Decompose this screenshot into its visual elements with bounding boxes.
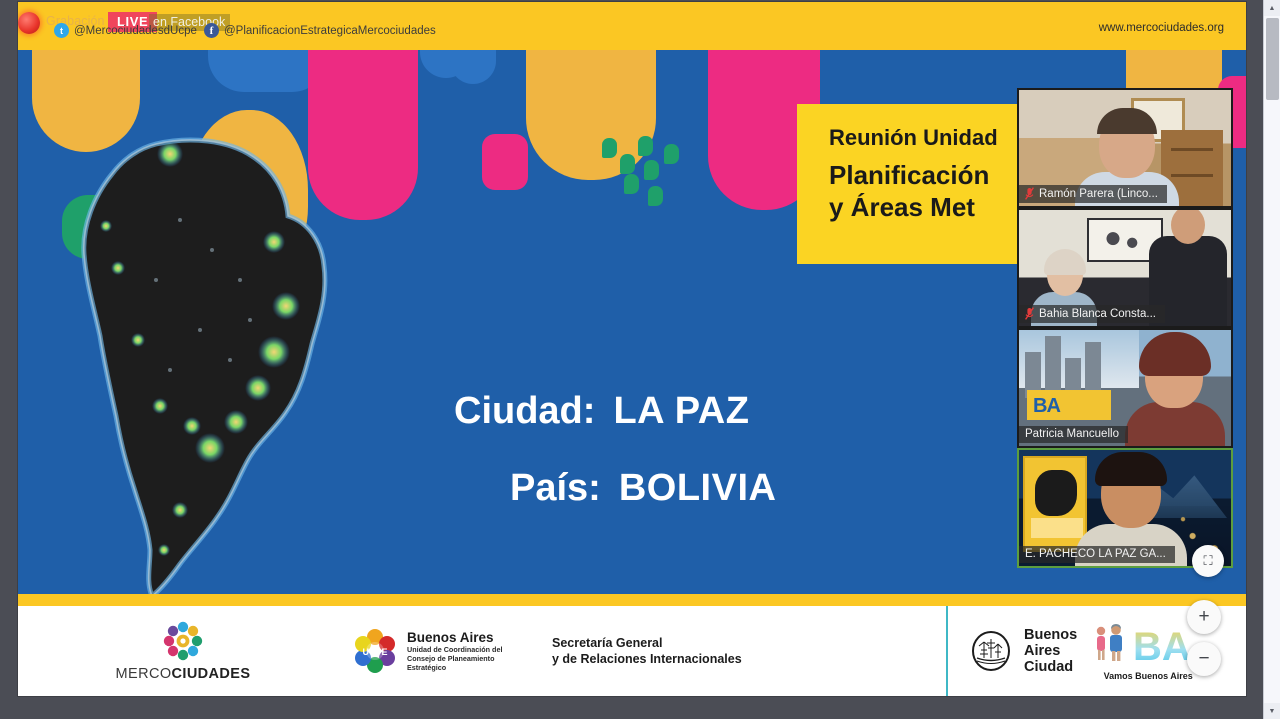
facebook-icon: f <box>204 23 219 38</box>
vertical-scrollbar[interactable]: ▲ ▼ <box>1263 0 1280 719</box>
facebook-handle-text: @PlanificacionEstrategicaMercociudades <box>224 25 436 37</box>
participant-name-badge: E. PACHECO LA PAZ GA... <box>1019 546 1175 563</box>
twitter-handle-group: t @MercociudadesdUcpe <box>54 23 197 38</box>
decor-shape-pink-2 <box>482 134 528 190</box>
merco-text-bold: CIUDADES <box>172 666 251 682</box>
decor-leaf-6 <box>648 186 663 206</box>
decor-building-2 <box>1045 336 1061 398</box>
pais-value: BOLIVIA <box>619 467 777 510</box>
participant-avatar <box>1119 340 1229 448</box>
presentation-viewer: Grabación LIVE en Facebook t @Mercociuda… <box>0 0 1280 719</box>
participant-name-text: Bahia Blanca Consta... <box>1039 308 1156 320</box>
zoom-out-button[interactable]: − <box>1187 642 1221 676</box>
participant-name-badge: Bahia Blanca Consta... <box>1019 305 1165 323</box>
decor-leaf-1 <box>602 138 617 158</box>
buenos-aires-ciudad-texts: Buenos Aires Ciudad <box>1024 627 1077 676</box>
decor-leaf-7 <box>664 144 679 164</box>
mercociudades-wordmark: MERCOCIUDADES <box>116 666 251 682</box>
ba-line-2: Aires <box>1024 643 1077 659</box>
svg-text:UCPE: UCPE <box>362 647 387 657</box>
scroll-up-arrow[interactable]: ▲ <box>1264 0 1280 16</box>
decor-leaf-3 <box>638 136 653 156</box>
ucpe-logo: UCPE <box>352 628 398 674</box>
ucpe-sub-3: Estratégico <box>407 664 502 673</box>
participant-filmstrip: Ramón Parera (Linco... <box>1017 88 1233 568</box>
secretaria-group: Secretaría General y de Relaciones Inter… <box>528 606 946 696</box>
facebook-handle-group: f @PlanificacionEstrategicaMercociudades <box>204 23 436 38</box>
ucpe-texts: Buenos Aires Unidad de Coordinación del … <box>407 630 502 673</box>
decor-shape-blue-3 <box>450 50 496 84</box>
ucpe-title: Buenos Aires <box>407 630 502 646</box>
twitter-handle-text: @MercociudadesdUcpe <box>74 25 197 37</box>
decor-shape-yellow-2 <box>526 50 656 180</box>
participant-name-badge: Ramón Parera (Linco... <box>1019 185 1167 203</box>
fullscreen-button[interactable]: ⛶ <box>1192 545 1224 577</box>
ucpe-logo-group: UCPE Buenos Aires Unidad de Coordinación… <box>348 606 528 696</box>
south-america-density-map <box>60 130 390 594</box>
field-row-ciudad: Ciudad: LA PAZ <box>368 390 928 433</box>
mercociudades-logo <box>162 620 204 662</box>
zoom-in-button[interactable]: + <box>1187 600 1221 634</box>
twitter-icon: t <box>54 23 69 38</box>
secretaria-line-1: Secretaría General <box>552 635 742 651</box>
ciudad-value: LA PAZ <box>613 390 749 433</box>
participant-name-badge: Patricia Mancuello <box>1019 426 1128 443</box>
shared-screen-slide: Grabación LIVE en Facebook t @Mercociuda… <box>18 2 1246 696</box>
plus-icon: + <box>1198 606 1209 628</box>
secretaria-line-2: y de Relaciones Internacionales <box>552 651 742 667</box>
mic-muted-icon <box>1025 187 1034 200</box>
mic-muted-icon <box>1025 307 1034 320</box>
buenos-aires-seal-icon <box>970 630 1012 672</box>
participant-name-text: Ramón Parera (Linco... <box>1039 188 1158 200</box>
field-row-pais: País: BOLIVIA <box>368 467 928 510</box>
minus-icon: − <box>1198 648 1209 670</box>
decor-ba-text: BA <box>1033 395 1060 418</box>
ba-line-1: Buenos <box>1024 627 1077 643</box>
video-tile-patricia-mancuello[interactable]: BA Patricia Mancuello <box>1017 328 1233 448</box>
secretaria-texts: Secretaría General y de Relaciones Inter… <box>552 635 742 668</box>
slide-fields: Ciudad: LA PAZ País: BOLIVIA <box>368 390 928 510</box>
slide-footer: MERCOCIUDADES UCPE <box>18 606 1246 696</box>
ba-line-3: Ciudad <box>1024 659 1077 675</box>
slide-top-banner: Grabación LIVE en Facebook t @Mercociuda… <box>18 2 1246 50</box>
record-dot-icon <box>18 12 40 34</box>
svg-text:BA: BA <box>1133 625 1191 668</box>
participant-name-text: Patricia Mancuello <box>1025 428 1119 440</box>
decor-leaf-5 <box>644 160 659 180</box>
decor-leaf-4 <box>624 174 639 194</box>
scrollbar-thumb[interactable] <box>1266 18 1279 100</box>
pais-label: País: <box>510 467 601 510</box>
video-tile-ramon-parera[interactable]: Ramón Parera (Linco... <box>1017 88 1233 208</box>
participant-name-text: E. PACHECO LA PAZ GA... <box>1025 548 1166 560</box>
fullscreen-icon: ⛶ <box>1203 553 1212 569</box>
scroll-down-arrow[interactable]: ▼ <box>1264 703 1280 719</box>
mercociudades-logo-group: MERCOCIUDADES <box>18 606 348 696</box>
website-url: www.mercociudades.org <box>1099 22 1224 34</box>
decor-leaf-2 <box>620 154 635 174</box>
video-tile-bahia-blanca[interactable]: Bahia Blanca Consta... <box>1017 208 1233 328</box>
ciudad-label: Ciudad: <box>454 390 595 433</box>
merco-text-light: MERCO <box>116 666 172 682</box>
slide-divider-strip <box>18 594 1246 606</box>
ba-tagline: Vamos Buenos Aires <box>1089 671 1207 681</box>
